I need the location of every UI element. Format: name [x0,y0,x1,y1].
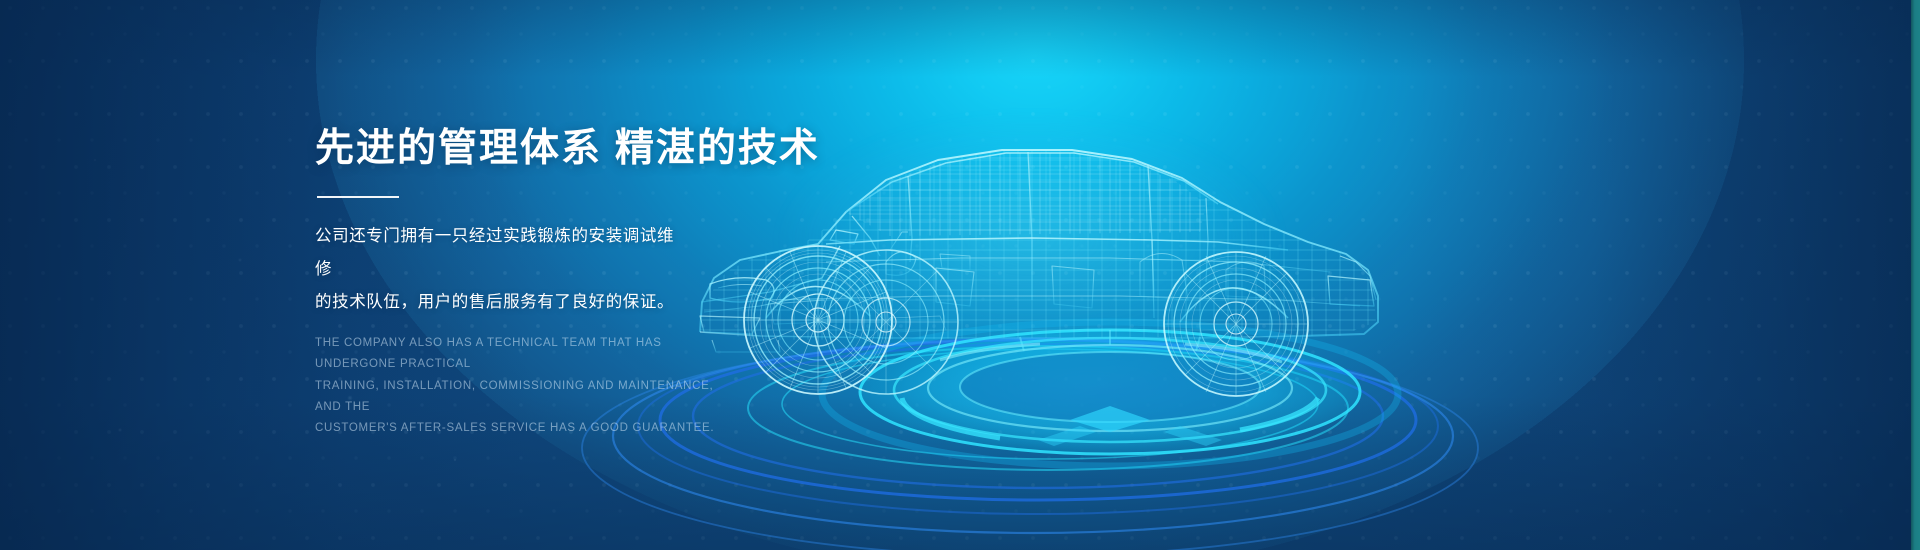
subcopy-line-1: THE COMPANY ALSO HAS A TECHNICAL TEAM TH… [315,337,662,370]
rear-wheel [1164,252,1308,396]
subcopy-line-2: TRAINING, INSTALLATION, COMMISSIONING AN… [315,380,713,413]
subcopy-line-3: CUSTOMER'S AFTER-SALES SERVICE HAS A GOO… [315,422,714,434]
page-title: 先进的管理体系 精湛的技术 [315,126,1015,172]
subcopy-paragraph: THE COMPANY ALSO HAS A TECHNICAL TEAM TH… [315,333,715,439]
lede-paragraph: 公司还专门拥有一只经过实践锻炼的安装调试维修 的技术队伍，用户的售后服务有了良好… [315,220,687,319]
lede-line-1: 公司还专门拥有一只经过实践锻炼的安装调试维修 [315,227,674,278]
title-divider [317,196,399,198]
lede-line-2: 的技术队伍，用户的售后服务有了良好的保证。 [315,293,674,311]
hero-banner: 先进的管理体系 精湛的技术 公司还专门拥有一只经过实践锻炼的安装调试维修 的技术… [0,0,1920,550]
banner-copy: 先进的管理体系 精湛的技术 公司还专门拥有一只经过实践锻炼的安装调试维修 的技术… [315,126,1015,439]
right-edge-accent [1911,0,1920,550]
